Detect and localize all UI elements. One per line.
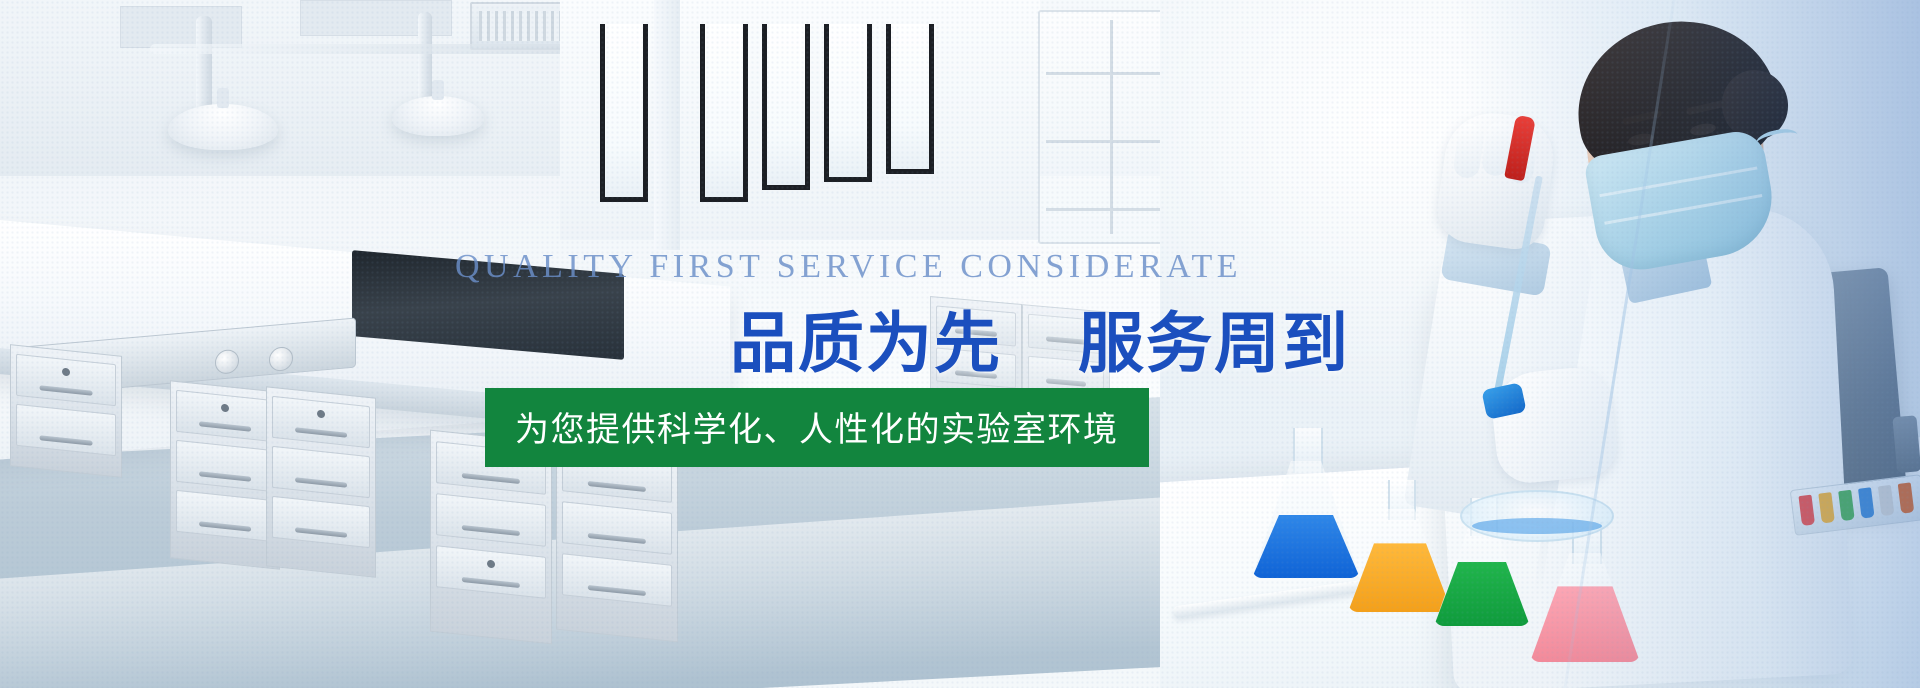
fume-extraction-arm <box>196 16 212 112</box>
flask-liquid <box>1434 562 1530 626</box>
cabinet-drawer[interactable] <box>562 501 672 555</box>
tube-2 <box>1818 492 1835 523</box>
drawer-lock <box>221 404 229 413</box>
glove-finger <box>1452 122 1485 179</box>
window-pane <box>700 24 748 202</box>
cabinet-block <box>170 380 280 570</box>
drawer-lock <box>62 368 70 377</box>
fume-hood-lamp <box>392 96 484 136</box>
fume-hood-lamp <box>168 104 278 150</box>
flask-liquid <box>1252 515 1360 578</box>
tube-3 <box>1838 490 1855 521</box>
cabinet-drawer[interactable] <box>436 545 546 599</box>
cabinet-drawer[interactable] <box>16 404 116 457</box>
flask-pink <box>1530 522 1640 662</box>
cabinet-drawer[interactable] <box>176 490 274 542</box>
shelf-upright <box>1110 20 1113 234</box>
cabinet-block <box>556 438 678 643</box>
cabinet-drawer[interactable] <box>16 354 116 407</box>
ceiling-panel <box>120 6 242 48</box>
window-mullion <box>654 0 680 250</box>
banner-subtitle-text: 为您提供科学化、人性化的实验室环境 <box>515 410 1119 450</box>
cabinet-block <box>10 344 122 478</box>
window-pane <box>824 24 872 182</box>
cabinet-drawer[interactable] <box>436 493 546 547</box>
tube-4 <box>1858 487 1875 518</box>
flask-blue <box>1252 428 1360 578</box>
utility-knob[interactable] <box>215 349 239 375</box>
cabinet-drawer[interactable] <box>272 446 370 498</box>
flask-liquid <box>1530 586 1640 662</box>
headline-part-2: 服务周到 <box>1078 305 1350 382</box>
cabinet-drawer[interactable] <box>176 390 274 442</box>
window-pane <box>762 24 810 190</box>
fume-extraction-arm <box>418 12 432 102</box>
cabinet-drawer[interactable] <box>176 440 274 492</box>
tube-6 <box>1898 482 1915 513</box>
cabinet-drawer[interactable] <box>272 396 370 448</box>
banner-headline: 品质为先 服务周到 <box>730 290 1350 386</box>
utility-knob[interactable] <box>269 346 293 372</box>
banner-subtitle-bar: 为您提供科学化、人性化的实验室环境 <box>485 388 1149 467</box>
headline-part-1: 品质为先 <box>730 305 1002 382</box>
window-pane <box>886 24 934 174</box>
hero-banner: QUALITY FIRST SERVICE CONSIDERATE 品质为先 服… <box>0 0 1920 688</box>
tube-1 <box>1798 495 1815 526</box>
cabinet-drawer[interactable] <box>272 496 370 548</box>
cabinet-block <box>266 386 376 578</box>
banner-eyebrow-text: QUALITY FIRST SERVICE CONSIDERATE <box>455 248 1242 286</box>
window-pane <box>600 24 648 202</box>
drawer-lock <box>487 560 495 569</box>
tube-5 <box>1878 485 1895 516</box>
drawer-lock <box>317 410 325 419</box>
cabinet-drawer[interactable] <box>562 553 672 607</box>
